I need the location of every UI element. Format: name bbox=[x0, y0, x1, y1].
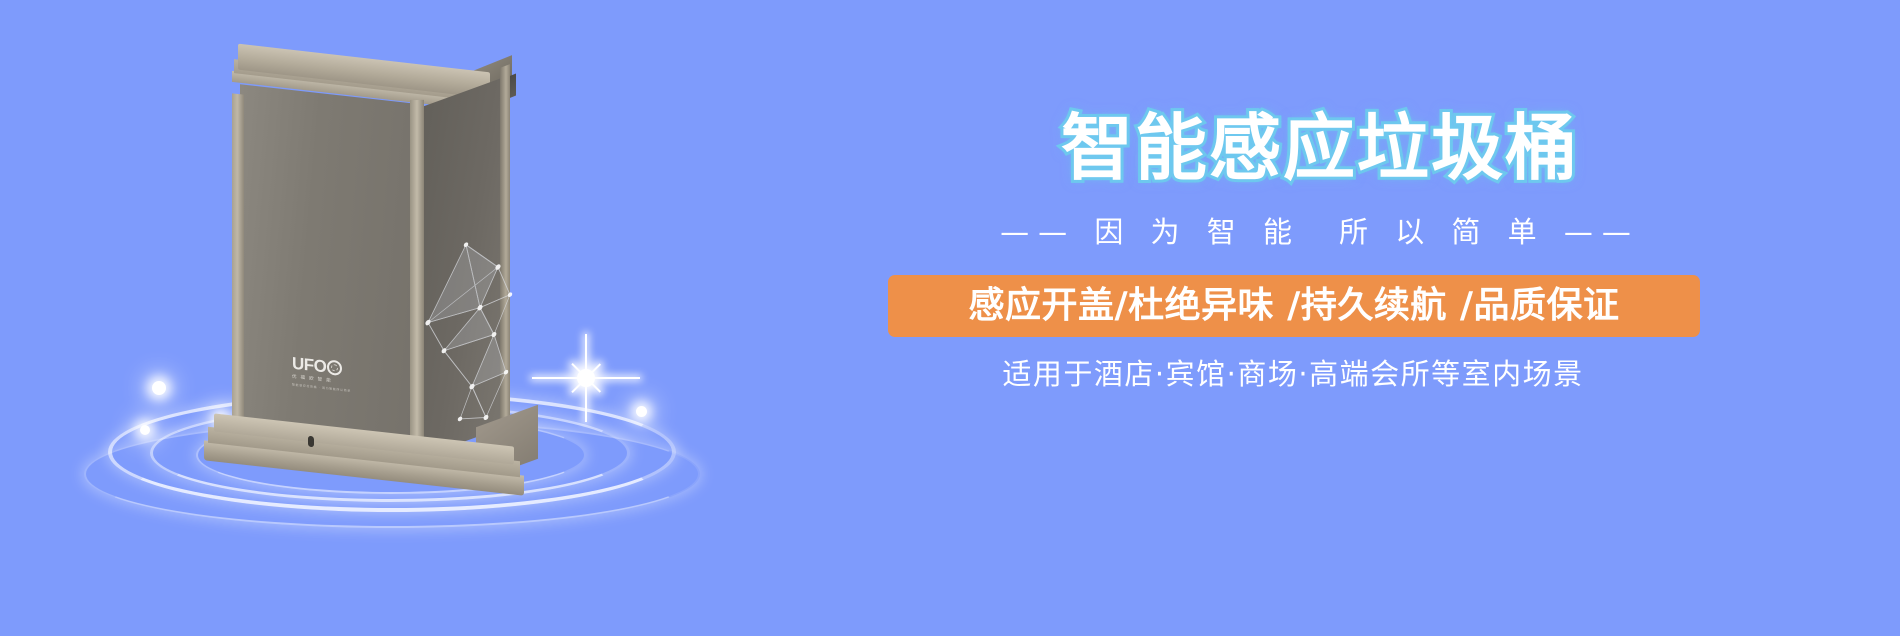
trash-bin-illustration: UFO 优 福 欧 智 能 智能感应垃圾桶 · 因为智能所以简单 bbox=[232, 58, 512, 428]
ufo-brand-logo: UFO 优 福 欧 智 能 智能感应垃圾桶 · 因为智能所以简单 bbox=[292, 355, 354, 394]
bin-lock-keyhole-icon bbox=[308, 436, 314, 448]
bin-left-edge-trim bbox=[232, 93, 244, 442]
feature-highlight-badge: 感应开盖/杜绝异味 /持久续航 /品质保证 bbox=[888, 275, 1700, 337]
banner-copy-block: 智能感应垃圾桶 —— 因 为 智 能 所 以 简 单 —— 感应开盖/杜绝异味 … bbox=[880, 0, 1880, 636]
banner-headline: 智能感应垃圾桶 bbox=[880, 112, 1760, 184]
glow-dot-icon bbox=[140, 425, 150, 435]
glow-dot-icon bbox=[152, 381, 166, 395]
bin-front-panel bbox=[240, 84, 416, 447]
promo-banner: UFO 优 福 欧 智 能 智能感应垃圾桶 · 因为智能所以简单 智能感应垃圾桶… bbox=[0, 0, 1900, 636]
banner-subheadline: —— 因 为 智 能 所 以 简 单 —— bbox=[880, 218, 1760, 247]
feature-highlight-text: 感应开盖/杜绝异味 /持久续航 /品质保证 bbox=[968, 288, 1619, 324]
product-hero-artwork: UFO 优 福 欧 智 能 智能感应垃圾桶 · 因为智能所以简单 bbox=[0, 0, 780, 636]
ufo-wordmark: UFO bbox=[292, 355, 326, 376]
ufo-ring-icon bbox=[327, 359, 342, 376]
glow-dot-icon bbox=[636, 406, 647, 417]
usage-scenarios-text: 适用于酒店·宾馆·商场·高端会所等室内场景 bbox=[880, 360, 1706, 389]
